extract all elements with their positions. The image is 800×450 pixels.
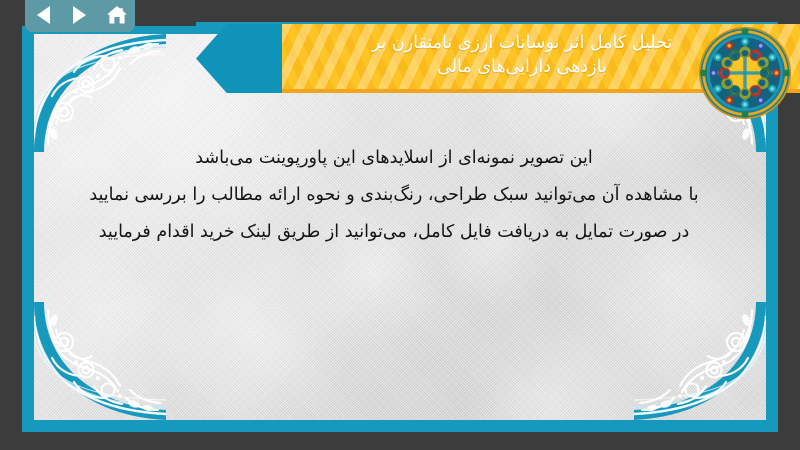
left-triangle-icon [37, 6, 50, 24]
home-icon [106, 5, 128, 25]
viewer-toolbar [0, 0, 800, 38]
right-triangle-icon [73, 6, 86, 24]
persian-corner-flourish-icon [34, 302, 166, 420]
persian-medallion-icon [698, 26, 792, 120]
persian-corner-flourish-icon [634, 302, 766, 420]
nav-controls-panel [25, 0, 135, 32]
previous-slide-button[interactable] [30, 3, 56, 27]
next-slide-button[interactable] [67, 3, 93, 27]
page-title: تحلیل کامل اثر نوسانات ارزی نامتقارن بر … [372, 32, 672, 79]
body-line: این تصویر نمونه‌ای از اسلایدهای این پاور… [74, 140, 714, 177]
slide-body-text: این تصویر نمونه‌ای از اسلایدهای این پاور… [74, 140, 714, 251]
body-line: با مشاهده آن می‌توانید سبک طراحی، رنگ‌بن… [74, 177, 714, 214]
body-line: در صورت تمایل به دریافت فایل کامل، می‌تو… [74, 214, 714, 251]
persian-corner-flourish-icon [34, 34, 166, 152]
home-button[interactable] [104, 3, 130, 27]
slide-viewer: این تصویر نمونه‌ای از اسلایدهای این پاور… [0, 0, 800, 450]
